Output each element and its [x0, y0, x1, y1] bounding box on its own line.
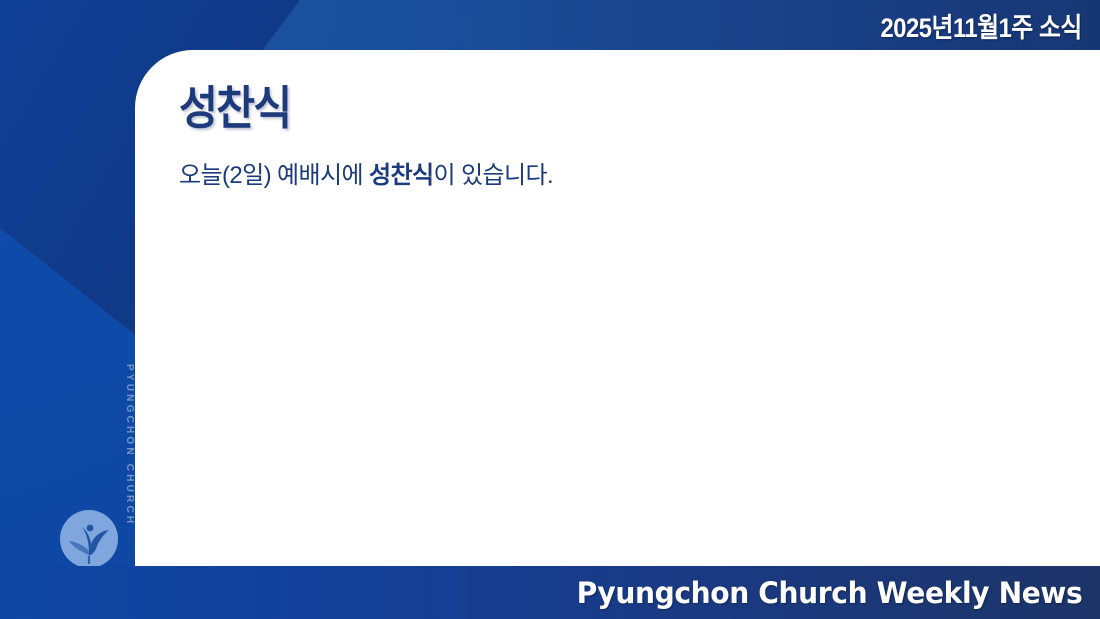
- weekly-news-slide: 2025년11월1주 소식 PYUNGCHON CHURCH 성찬식 오늘(2일…: [0, 0, 1100, 619]
- content-card: 성찬식 오늘(2일) 예배시에 성찬식이 있습니다.: [135, 50, 1100, 566]
- announcement-text-prefix: 오늘(2일) 예배시에: [179, 162, 369, 189]
- issue-date-label: 2025년11월1주 소식: [881, 6, 1082, 45]
- page-title: 성찬식: [179, 84, 1026, 132]
- announcement-text: 오늘(2일) 예배시에 성찬식이 있습니다.: [179, 158, 1100, 194]
- footer-brand-label: Pyungchon Church Weekly News: [576, 576, 1082, 610]
- footer-band: Pyungchon Church Weekly News: [0, 566, 1100, 619]
- announcement-text-suffix: 이 있습니다.: [433, 162, 553, 189]
- announcement-text-emphasis: 성찬식: [369, 162, 433, 189]
- header-band: 2025년11월1주 소식: [0, 0, 1100, 50]
